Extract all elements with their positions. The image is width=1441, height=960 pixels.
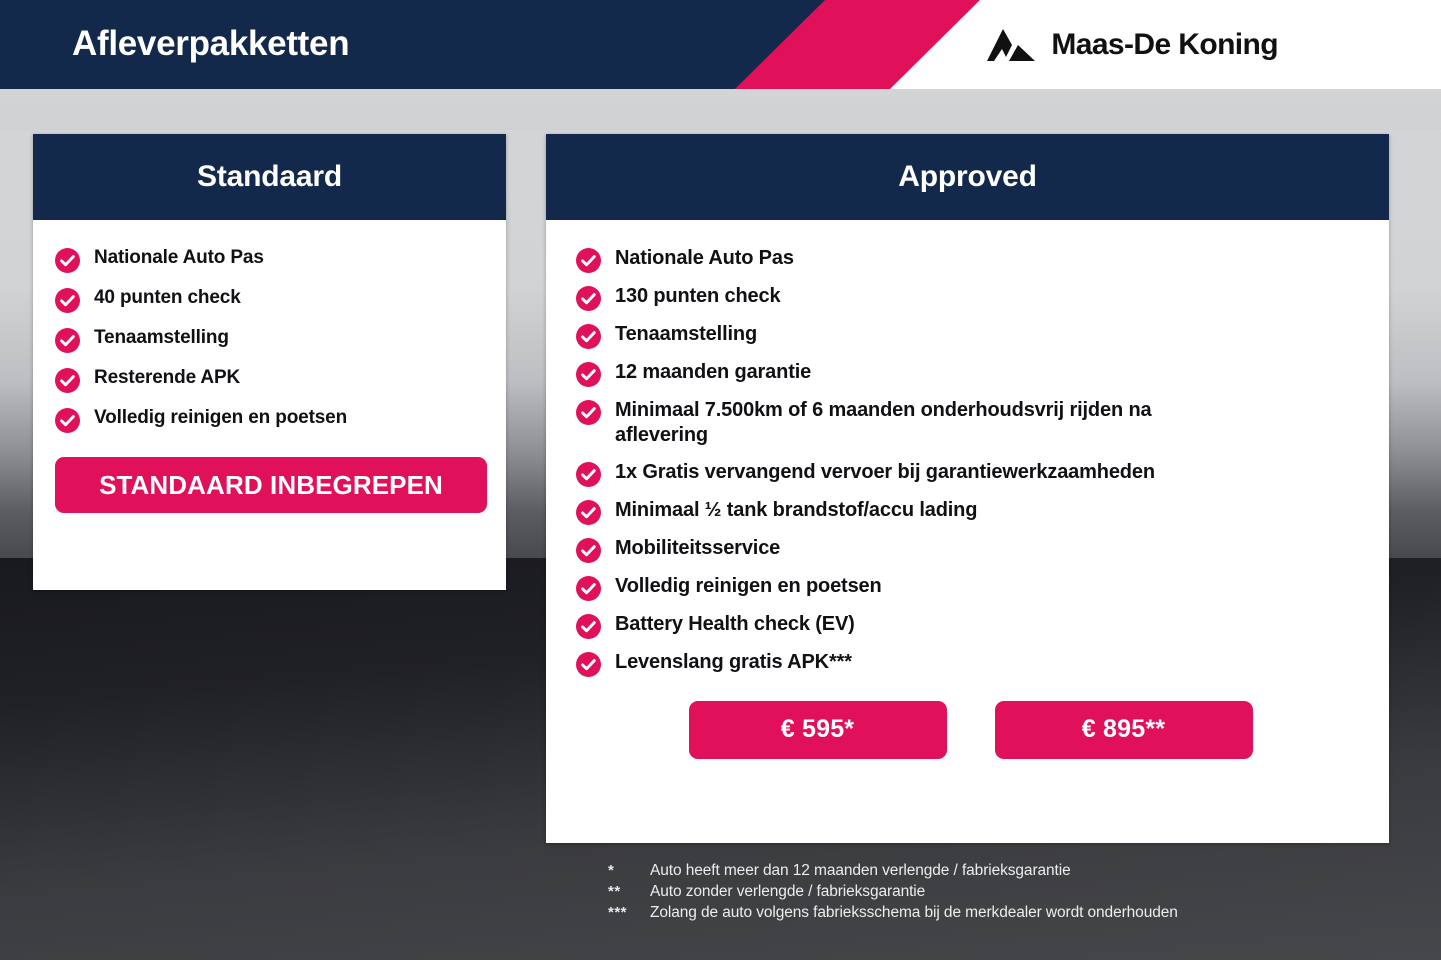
list-item: Nationale Auto Pas xyxy=(576,246,1365,273)
footnote-marker: *** xyxy=(608,904,642,921)
feature-label: Battery Health check (EV) xyxy=(615,612,855,637)
footnote-marker: * xyxy=(608,862,642,879)
check-circle-icon xyxy=(576,614,601,639)
footnote-text: Auto heeft meer dan 12 maanden verlengde… xyxy=(650,862,1071,880)
list-item: 40 punten check xyxy=(55,286,480,313)
footnote-text: Auto zonder verlengde / fabrieksgarantie xyxy=(650,883,925,901)
check-circle-icon xyxy=(576,286,601,311)
footnote-text: Zolang de auto volgens fabrieksschema bi… xyxy=(650,904,1178,922)
feature-label: Nationale Auto Pas xyxy=(94,246,264,269)
list-item: 1x Gratis vervangend vervoer bij garanti… xyxy=(576,460,1365,487)
feature-label: 40 punten check xyxy=(94,286,241,309)
list-item: 130 punten check xyxy=(576,284,1365,311)
background-top-strip xyxy=(0,88,1441,130)
list-item: 12 maanden garantie xyxy=(576,360,1365,387)
feature-label: Tenaamstelling xyxy=(94,326,229,349)
standaard-included-button[interactable]: STANDAARD INBEGREPEN xyxy=(55,457,487,513)
page-title: Afleverpakketten xyxy=(72,24,349,64)
page-header: Afleverpakketten Maas-De Koning xyxy=(0,0,1441,89)
card-title-standaard: Standaard xyxy=(197,160,342,194)
brand-logo: Maas-De Koning xyxy=(985,27,1278,63)
list-item: Mobiliteitsservice xyxy=(576,536,1365,563)
card-header-approved: Approved xyxy=(546,134,1389,220)
check-circle-icon xyxy=(576,500,601,525)
check-circle-icon xyxy=(55,288,80,313)
list-item: Levenslang gratis APK*** xyxy=(576,650,1365,677)
check-circle-icon xyxy=(55,248,80,273)
check-circle-icon xyxy=(576,248,601,273)
check-circle-icon xyxy=(576,462,601,487)
footnotes: * Auto heeft meer dan 12 maanden verleng… xyxy=(608,862,1368,925)
feature-label: Nationale Auto Pas xyxy=(615,246,794,271)
footnote-row: * Auto heeft meer dan 12 maanden verleng… xyxy=(608,862,1368,880)
feature-label: 1x Gratis vervangend vervoer bij garanti… xyxy=(615,460,1155,485)
card-body-standaard: Nationale Auto Pas 40 punten check Tenaa… xyxy=(33,220,506,433)
check-circle-icon xyxy=(55,408,80,433)
list-item: Minimaal 7.500km of 6 maanden onderhouds… xyxy=(576,398,1236,449)
list-item: Volledig reinigen en poetsen xyxy=(576,574,1365,601)
list-item: Resterende APK xyxy=(55,366,480,393)
card-header-standaard: Standaard xyxy=(33,134,506,220)
check-circle-icon xyxy=(576,324,601,349)
feature-label: Volledig reinigen en poetsen xyxy=(94,406,347,429)
check-circle-icon xyxy=(576,400,601,425)
maas-de-koning-logo-icon xyxy=(985,27,1037,63)
check-circle-icon xyxy=(576,576,601,601)
feature-list-approved: Nationale Auto Pas 130 punten check Tena… xyxy=(576,246,1365,677)
poster-canvas: Afleverpakketten Maas-De Koning Standaar… xyxy=(0,0,1441,960)
price-button-895[interactable]: € 895** xyxy=(995,701,1253,759)
list-item: Battery Health check (EV) xyxy=(576,612,1365,639)
brand-name: Maas-De Koning xyxy=(1051,28,1278,62)
list-item: Minimaal ½ tank brandstof/accu lading xyxy=(576,498,1365,525)
feature-label: Levenslang gratis APK*** xyxy=(615,650,852,675)
footnote-row: *** Zolang de auto volgens fabrieksschem… xyxy=(608,904,1368,922)
package-card-approved: Approved Nationale Auto Pas 130 punten c xyxy=(546,134,1389,843)
feature-label: Mobiliteitsservice xyxy=(615,536,780,561)
footnote-marker: ** xyxy=(608,883,642,900)
feature-label: 130 punten check xyxy=(615,284,780,309)
check-circle-icon xyxy=(55,368,80,393)
list-item: Tenaamstelling xyxy=(576,322,1365,349)
feature-label: Minimaal 7.500km of 6 maanden onderhouds… xyxy=(615,398,1236,449)
check-circle-icon xyxy=(576,538,601,563)
list-item: Tenaamstelling xyxy=(55,326,480,353)
list-item: Nationale Auto Pas xyxy=(55,246,480,273)
check-circle-icon xyxy=(576,652,601,677)
check-circle-icon xyxy=(55,328,80,353)
price-button-row: € 595* € 895** xyxy=(576,701,1365,767)
card-body-approved: Nationale Auto Pas 130 punten check Tena… xyxy=(546,220,1389,767)
feature-label: Volledig reinigen en poetsen xyxy=(615,574,882,599)
price-button-595[interactable]: € 595* xyxy=(689,701,947,759)
feature-label: Minimaal ½ tank brandstof/accu lading xyxy=(615,498,977,523)
feature-list-standaard: Nationale Auto Pas 40 punten check Tenaa… xyxy=(55,246,480,433)
check-circle-icon xyxy=(576,362,601,387)
list-item: Volledig reinigen en poetsen xyxy=(55,406,480,433)
feature-label: 12 maanden garantie xyxy=(615,360,811,385)
feature-label: Tenaamstelling xyxy=(615,322,757,347)
footnote-row: ** Auto zonder verlengde / fabrieksgaran… xyxy=(608,883,1368,901)
card-title-approved: Approved xyxy=(898,160,1036,194)
package-card-standaard: Standaard Nationale Auto Pas 40 punten c xyxy=(33,134,506,590)
feature-label: Resterende APK xyxy=(94,366,240,389)
